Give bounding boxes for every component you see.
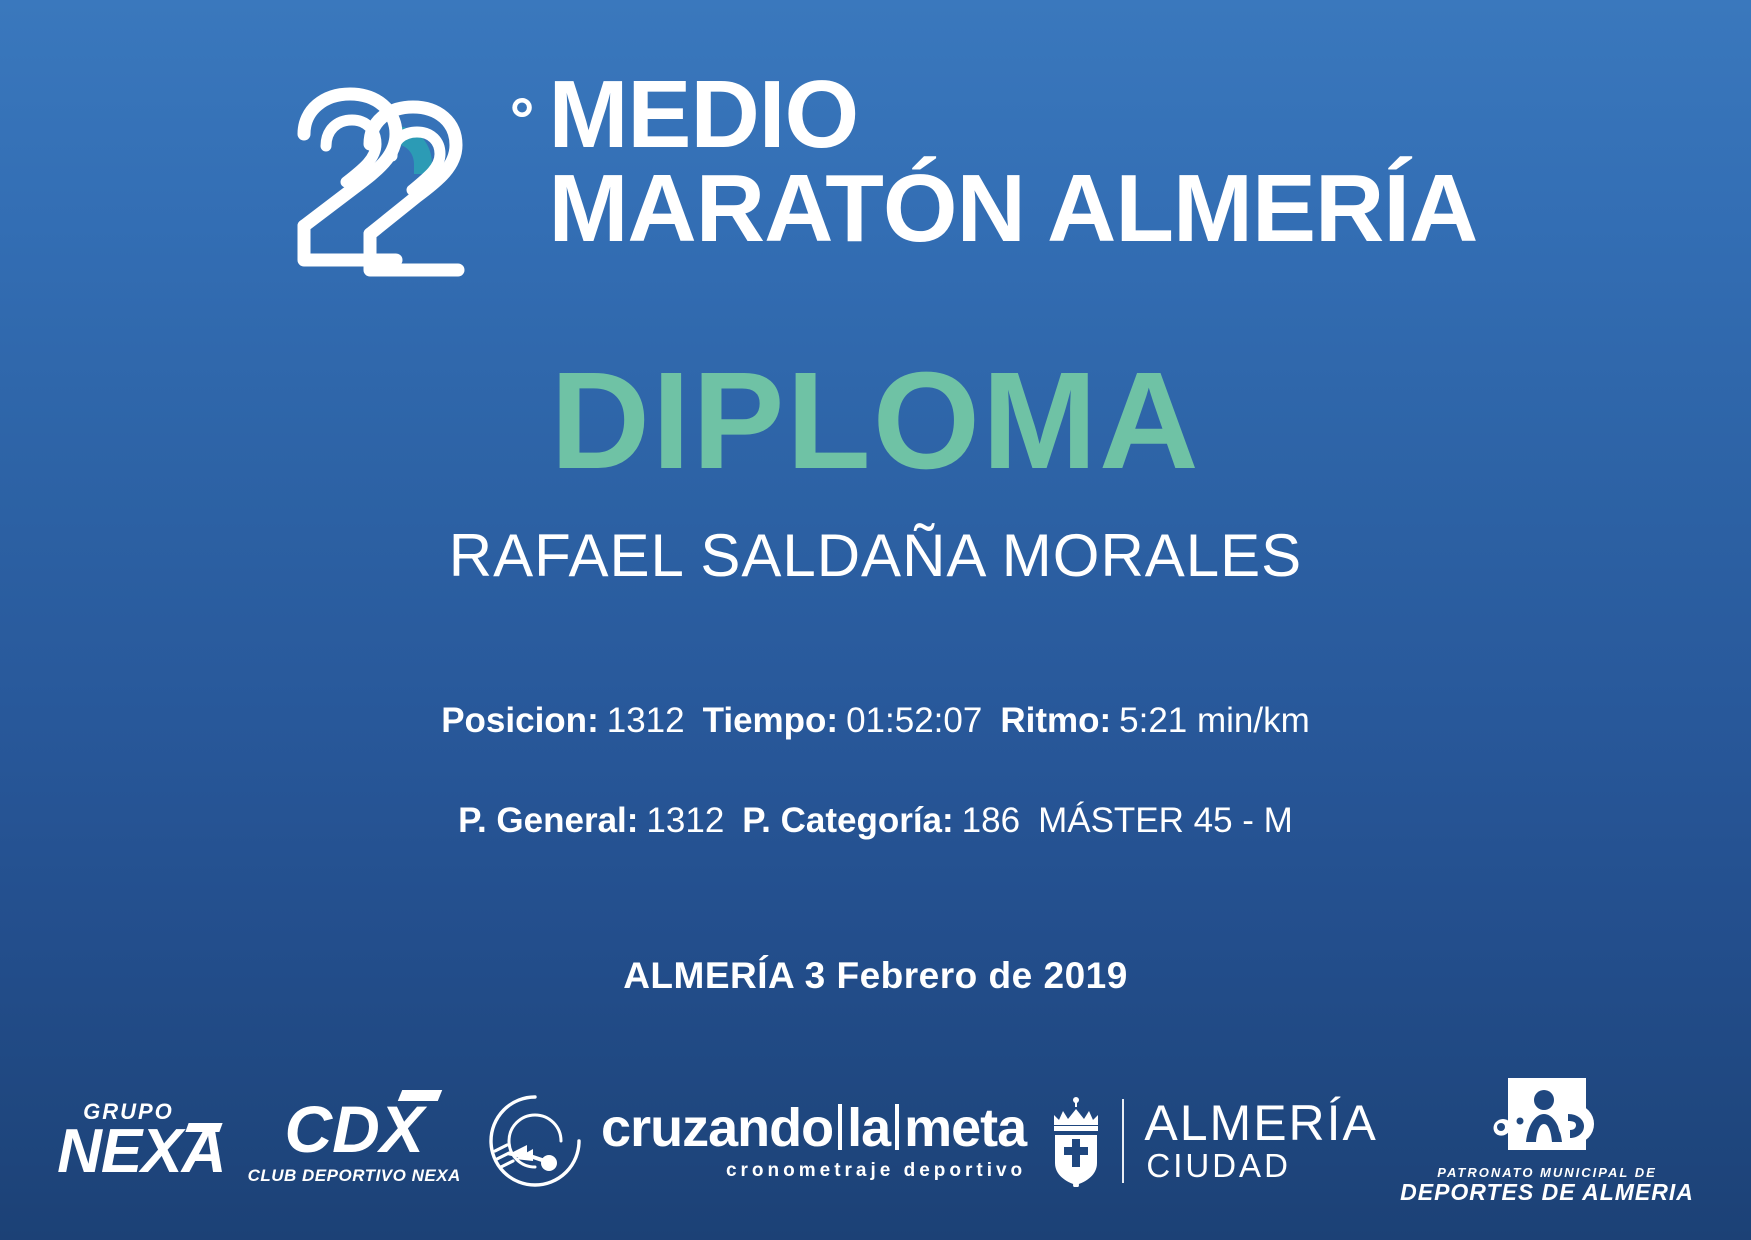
label-p-general: P. General: — [458, 801, 638, 840]
cdx-slash-icon — [398, 1090, 442, 1101]
results-row-primary: Posicion:1312Tiempo:01:52:07Ritmo:5:21 m… — [0, 700, 1751, 742]
cruzandolameta-main: cruzando la meta — [601, 1100, 1026, 1155]
value-posicion: 1312 — [607, 701, 685, 740]
cdx-wordmark-text: CDX — [285, 1092, 424, 1166]
almeria-main-text: ALMERÍA — [1144, 1098, 1378, 1149]
patronato-athletes-icon — [1488, 1078, 1606, 1160]
label-p-categoria: P. Categoría: — [742, 801, 953, 840]
patronato-line1: PATRONATO MUNICIPAL DE — [1437, 1165, 1657, 1180]
label-tiempo: Tiempo: — [703, 701, 838, 740]
value-p-categoria: 186 — [962, 801, 1020, 840]
almeria-wordmark: ALMERÍA CIUDAD — [1144, 1098, 1378, 1184]
value-p-general: 1312 — [646, 801, 724, 840]
cdx-wordmark: CDX — [285, 1096, 424, 1162]
almeria-vertical-divider — [1122, 1099, 1124, 1183]
almeria-sub-text: CIUDAD — [1146, 1149, 1378, 1184]
athlete-name: RAFAEL SALDAÑA MORALES — [0, 523, 1751, 589]
cruzandolameta-subtitle: cronometraje deportivo — [726, 1160, 1026, 1182]
sponsor-grupo-nexa-logo: GRUPO NEXA — [57, 1099, 225, 1183]
cruzandolameta-word3: meta — [904, 1101, 1026, 1155]
value-categoria-name: MÁSTER 45 - M — [1038, 801, 1293, 840]
results-row-secondary: P. General:1312P. Categoría:186MÁSTER 45… — [0, 800, 1751, 842]
nexa-slash-icon — [186, 1123, 223, 1132]
sponsor-almeria-ciudad-logo: ALMERÍA CIUDAD — [1048, 1095, 1378, 1187]
sponsor-strip: GRUPO NEXA CDX CLUB DEPORTIVO NEXA — [0, 1076, 1751, 1206]
cruzandolameta-word2: la — [847, 1101, 890, 1155]
cruzandolameta-word1: cruzando — [601, 1101, 833, 1155]
nexa-wordmark: NEXA — [57, 1121, 225, 1183]
cruzandolameta-divider2-icon — [895, 1104, 899, 1150]
label-ritmo: Ritmo: — [1000, 701, 1111, 740]
event-title: MEDIO MARATÓN ALMERÍA — [548, 68, 1477, 256]
sponsor-cruzandolameta-logo: cruzando la meta cronometraje deportivo — [483, 1089, 1026, 1193]
edition-degree-symbol: ° — [510, 90, 535, 152]
value-tiempo: 01:52:07 — [846, 701, 982, 740]
cruzandolameta-wordmark: cruzando la meta cronometraje deportivo — [601, 1100, 1026, 1182]
cdx-subtitle: CLUB DEPORTIVO NEXA — [248, 1166, 461, 1186]
diploma-certificate: ° MEDIO MARATÓN ALMERÍA DIPLOMA RAFAEL S… — [0, 0, 1751, 1240]
sponsor-cdx-logo: CDX CLUB DEPORTIVO NEXA — [248, 1096, 461, 1186]
edition-22-logo-icon — [274, 74, 504, 304]
speedometer-icon — [483, 1089, 587, 1193]
diploma-heading: DIPLOMA — [0, 352, 1751, 490]
place-and-date: ALMERÍA 3 Febrero de 2019 — [0, 955, 1751, 997]
almeria-crowned-shield-icon — [1048, 1095, 1104, 1187]
cruzandolameta-divider-icon — [838, 1104, 842, 1150]
event-header: ° MEDIO MARATÓN ALMERÍA — [0, 62, 1751, 304]
label-posicion: Posicion: — [441, 701, 599, 740]
patronato-line2: DEPORTES DE ALMERIA — [1400, 1180, 1694, 1204]
value-ritmo: 5:21 min/km — [1119, 701, 1310, 740]
sponsor-patronato-deportes-logo: PATRONATO MUNICIPAL DE DEPORTES DE ALMER… — [1400, 1078, 1694, 1204]
event-title-line1: MEDIO — [548, 68, 1477, 162]
event-title-line2: MARATÓN ALMERÍA — [548, 162, 1477, 256]
